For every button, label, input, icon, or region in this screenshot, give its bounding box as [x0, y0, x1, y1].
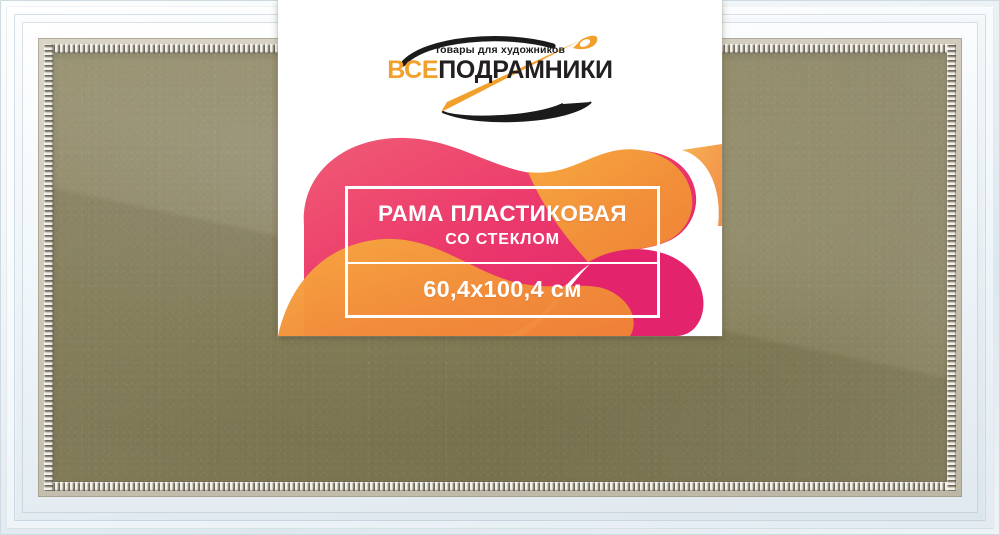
- product-info-card: товары для художников ВСЕПОДРАМНИКИ: [278, 0, 722, 336]
- product-title: РАМА ПЛАСТИКОВАЯ: [378, 203, 627, 226]
- product-photo: товары для художников ВСЕПОДРАМНИКИ: [0, 0, 1000, 535]
- bead-strip-left: [44, 44, 53, 491]
- decorative-blob-artwork: РАМА ПЛАСТИКОВАЯ СО СТЕКЛОМ 60,4x100,4 с…: [278, 130, 722, 336]
- product-size-box: 60,4x100,4 см: [345, 262, 660, 318]
- product-text-boxes: РАМА ПЛАСТИКОВАЯ СО СТЕКЛОМ 60,4x100,4 с…: [345, 186, 660, 318]
- product-subtitle: СО СТЕКЛОМ: [445, 232, 559, 248]
- product-title-box: РАМА ПЛАСТИКОВАЯ СО СТЕКЛОМ: [345, 186, 660, 264]
- bead-strip-right: [947, 44, 956, 491]
- brand-name-part2: ПОДРАМНИКИ: [438, 56, 613, 84]
- brand-name-part1: ВСЕ: [387, 56, 438, 84]
- bead-strip-bottom: [44, 482, 956, 491]
- brand-logo: товары для художников ВСЕПОДРАМНИКИ: [278, 22, 722, 130]
- product-size: 60,4x100,4 см: [423, 278, 582, 302]
- brand-tagline: товары для художников: [278, 44, 722, 56]
